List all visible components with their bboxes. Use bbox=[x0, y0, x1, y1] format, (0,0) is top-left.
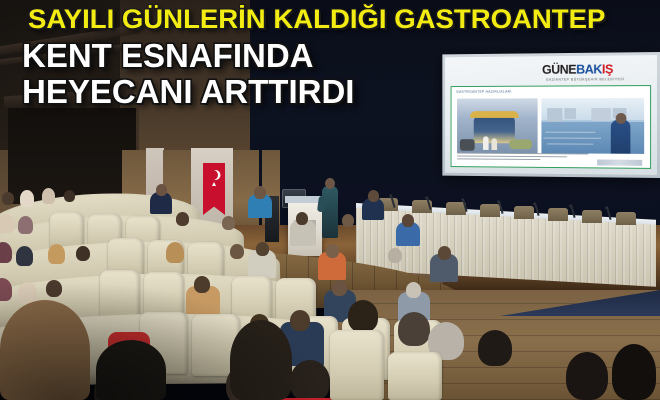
audience-head bbox=[326, 244, 339, 258]
audience-head-foreground bbox=[398, 312, 430, 346]
news-photo-card: GÜNEBAKIŞ GAZİANTEP BÜYÜKŞEHİR BELEDİYES… bbox=[0, 0, 660, 400]
panel-chair bbox=[582, 210, 602, 223]
audience-head bbox=[176, 212, 189, 226]
panel-chair bbox=[616, 212, 636, 225]
audience-head bbox=[2, 192, 14, 205]
audience-head-foreground bbox=[290, 360, 330, 400]
person-in-blue bbox=[611, 120, 631, 154]
auditorium-seat bbox=[100, 270, 140, 320]
ground-stripe bbox=[545, 132, 595, 133]
audience-head-foreground bbox=[566, 352, 608, 400]
person-head bbox=[616, 113, 627, 124]
slide-caption bbox=[457, 153, 611, 161]
auditorium-seat bbox=[330, 330, 384, 400]
audience-head-foreground bbox=[0, 300, 90, 400]
audience-headscarf bbox=[42, 188, 55, 204]
auditorium-seat bbox=[388, 352, 442, 400]
audience-head bbox=[46, 280, 62, 297]
audience-head bbox=[368, 190, 379, 202]
audience-head bbox=[230, 244, 244, 259]
audience-head bbox=[194, 276, 210, 293]
audience-head bbox=[76, 246, 90, 261]
audience-head-foreground bbox=[96, 340, 166, 400]
audience-headscarf bbox=[0, 214, 14, 233]
parked-car bbox=[509, 139, 532, 149]
audience-head-foreground bbox=[478, 330, 512, 366]
audience-head-foreground bbox=[348, 300, 378, 332]
shop-awning bbox=[470, 111, 519, 118]
audience-headscarf bbox=[18, 216, 33, 234]
audience-head bbox=[402, 214, 414, 227]
audience-head-foreground bbox=[230, 320, 292, 400]
crescent-icon bbox=[208, 170, 218, 180]
audience-head bbox=[406, 282, 421, 298]
audience-head bbox=[256, 242, 269, 256]
audience-headscarf bbox=[166, 242, 184, 263]
panel-chair bbox=[514, 206, 534, 219]
audience-head bbox=[254, 186, 266, 199]
panel-chair bbox=[548, 208, 568, 221]
audience-head bbox=[64, 190, 75, 202]
slide-footer-logos bbox=[597, 160, 642, 166]
audience-head bbox=[438, 246, 451, 260]
audience-headscarf bbox=[20, 190, 34, 207]
audience-head bbox=[342, 214, 354, 227]
headline-title-line2: HEYECANI ARTTIRDI bbox=[22, 74, 660, 110]
audience-head bbox=[222, 216, 235, 230]
shop-person bbox=[483, 136, 489, 150]
audience-head bbox=[290, 310, 310, 331]
audience-head bbox=[156, 184, 167, 196]
audience-headscarf bbox=[48, 244, 65, 264]
headline-kicker: SAYILI GÜNLERİN KALDIĞI GASTROANTEP bbox=[28, 4, 660, 34]
audience-head bbox=[388, 248, 402, 263]
headline-title: KENT ESNAFINDA HEYECANI ARTTIRDI bbox=[22, 38, 660, 110]
audience-headscarf bbox=[16, 246, 33, 266]
headline-overlay: SAYILI GÜNLERİN KALDIĞI GASTROANTEP KENT… bbox=[0, 0, 660, 110]
audience-head bbox=[296, 212, 308, 225]
building bbox=[547, 108, 562, 122]
headline-title-line1: KENT ESNAFINDA bbox=[22, 38, 660, 74]
audience-head-foreground bbox=[612, 344, 656, 400]
parked-motorbike bbox=[460, 139, 475, 151]
shop-person bbox=[491, 138, 497, 150]
audience-head bbox=[332, 280, 347, 296]
